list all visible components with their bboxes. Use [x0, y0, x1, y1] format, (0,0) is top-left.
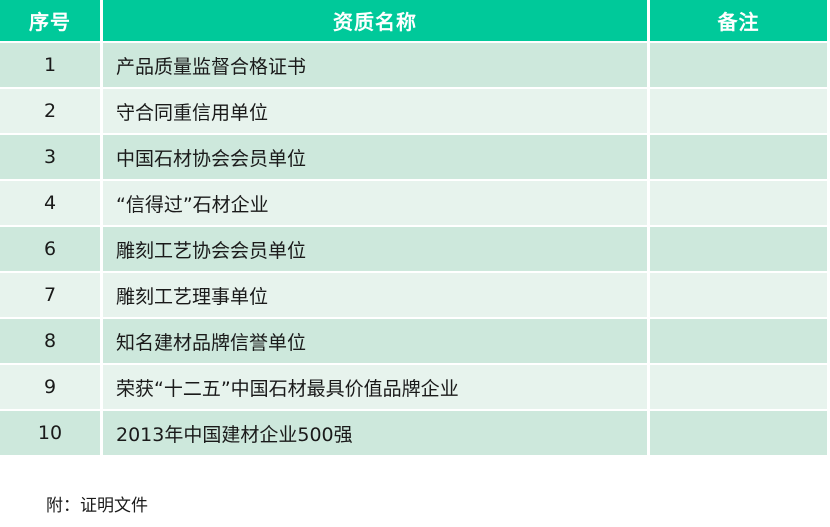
cell-note	[650, 365, 827, 411]
cell-no: 4	[0, 181, 103, 227]
cell-name: 2013年中国建材企业500强	[103, 411, 650, 457]
column-header-name: 资质名称	[103, 0, 650, 43]
cell-name: 守合同重信用单位	[103, 89, 650, 135]
cell-no: 10	[0, 411, 103, 457]
column-header-note: 备注	[650, 0, 827, 43]
table-row: 6 雕刻工艺协会会员单位	[0, 227, 827, 273]
cell-name: “信得过”石材企业	[103, 181, 650, 227]
cell-note	[650, 411, 827, 457]
cell-note	[650, 181, 827, 227]
cell-note	[650, 273, 827, 319]
cell-no: 3	[0, 135, 103, 181]
cell-no: 2	[0, 89, 103, 135]
page-root: 序号 资质名称 备注 1 产品质量监督合格证书 2 守合同重信用单位 3 中国石…	[0, 0, 830, 527]
table-row: 10 2013年中国建材企业500强	[0, 411, 827, 457]
cell-no: 6	[0, 227, 103, 273]
qualifications-table: 序号 资质名称 备注 1 产品质量监督合格证书 2 守合同重信用单位 3 中国石…	[0, 0, 827, 457]
table-row: 8 知名建材品牌信誉单位	[0, 319, 827, 365]
table-row: 4 “信得过”石材企业	[0, 181, 827, 227]
cell-name: 知名建材品牌信誉单位	[103, 319, 650, 365]
cell-name: 产品质量监督合格证书	[103, 43, 650, 89]
table-row: 9 荣获“十二五”中国石材最具价值品牌企业	[0, 365, 827, 411]
table-row: 3 中国石材协会会员单位	[0, 135, 827, 181]
table-body: 1 产品质量监督合格证书 2 守合同重信用单位 3 中国石材协会会员单位 4 “…	[0, 43, 827, 457]
cell-name: 荣获“十二五”中国石材最具价值品牌企业	[103, 365, 650, 411]
cell-no: 7	[0, 273, 103, 319]
footer-note: 附：证明文件	[46, 491, 148, 516]
cell-note	[650, 227, 827, 273]
table-header: 序号 资质名称 备注	[0, 0, 827, 43]
cell-no: 9	[0, 365, 103, 411]
cell-note	[650, 135, 827, 181]
cell-name: 雕刻工艺协会会员单位	[103, 227, 650, 273]
cell-note	[650, 319, 827, 365]
column-header-no: 序号	[0, 0, 103, 43]
cell-note	[650, 43, 827, 89]
cell-name: 雕刻工艺理事单位	[103, 273, 650, 319]
cell-no: 8	[0, 319, 103, 365]
table-row: 1 产品质量监督合格证书	[0, 43, 827, 89]
table-header-row: 序号 资质名称 备注	[0, 0, 827, 43]
table-row: 2 守合同重信用单位	[0, 89, 827, 135]
table-row: 7 雕刻工艺理事单位	[0, 273, 827, 319]
cell-no: 1	[0, 43, 103, 89]
cell-note	[650, 89, 827, 135]
cell-name: 中国石材协会会员单位	[103, 135, 650, 181]
